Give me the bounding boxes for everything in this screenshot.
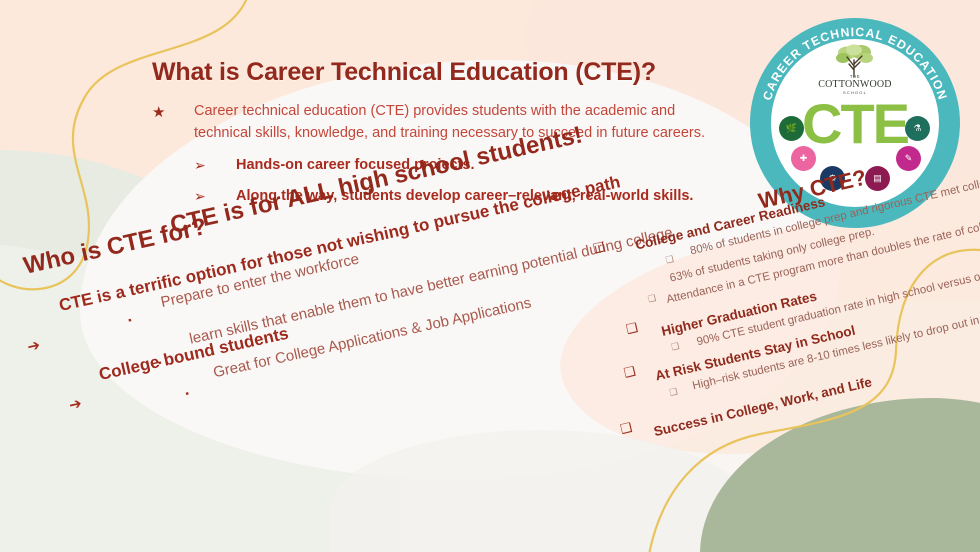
arrow-marker-icon: ➔ — [67, 394, 83, 414]
school-main-text: COTTONWOOD — [750, 79, 960, 90]
square-marker-icon: ▪ — [127, 315, 133, 327]
box-marker-icon: ❑ — [625, 320, 640, 338]
box-marker-icon: ❑ — [619, 419, 634, 437]
tree-icon — [834, 44, 876, 78]
lead-paragraph: Career technical education (CTE) provide… — [194, 101, 732, 144]
page-title: What is Career Technical Education (CTE)… — [152, 58, 732, 87]
arrowhead-icon: ➢ — [194, 155, 236, 175]
box-marker-small-icon: ❑ — [665, 254, 675, 267]
health-icon: ✚ — [791, 146, 816, 171]
slide-canvas: What is Career Technical Education (CTE)… — [0, 0, 980, 552]
arrow-marker-icon: ➔ — [26, 336, 42, 356]
why-item-label: Success in College, Work, and Life — [652, 374, 873, 439]
lead-bullet-row: ★ Career technical education (CTE) provi… — [152, 101, 732, 144]
box-marker-icon: ❑ — [592, 239, 607, 257]
square-marker-icon: ▪ — [184, 388, 190, 400]
star-icon: ★ — [152, 101, 194, 123]
box-marker-small-icon: ❑ — [668, 386, 678, 399]
box-marker-icon: ❑ — [622, 363, 637, 381]
box-marker-small-icon: ❑ — [670, 341, 680, 354]
science-icon: ⚗ — [905, 116, 930, 141]
box-marker-small-icon: ❑ — [647, 293, 657, 306]
agriculture-icon: 🌿 — [779, 116, 804, 141]
